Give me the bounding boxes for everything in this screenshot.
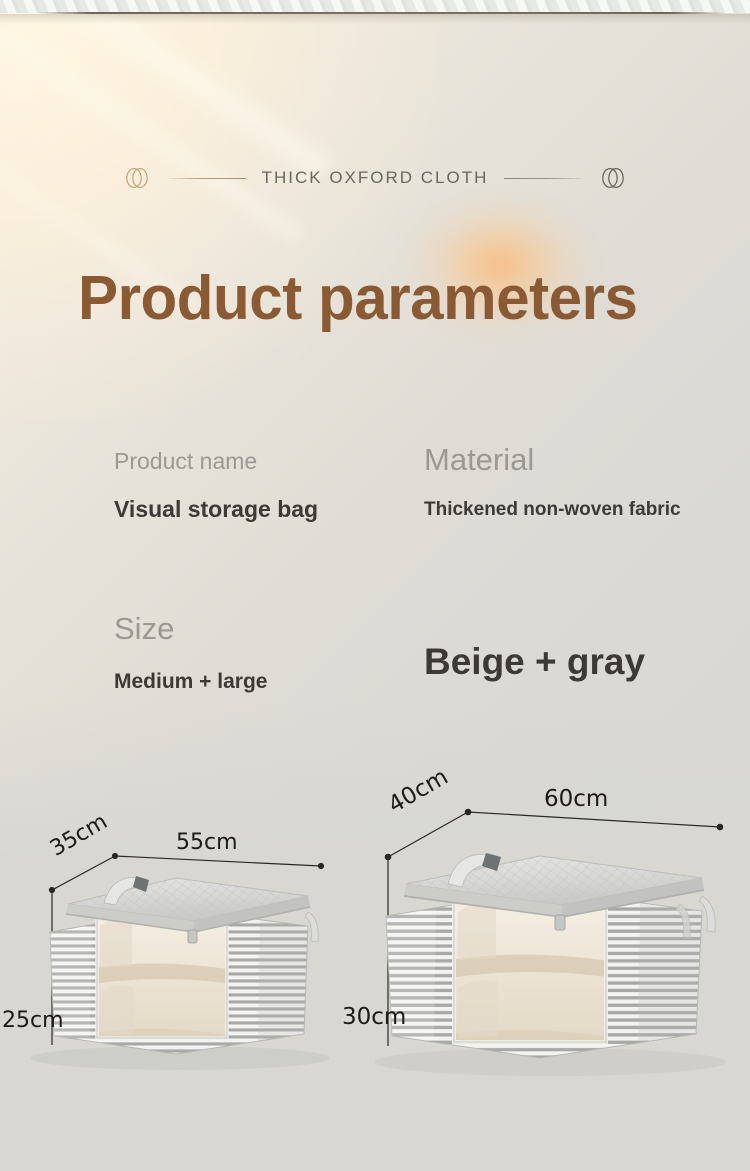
spec-size: Size Medium + large	[114, 611, 267, 694]
dimension-width-label: 60cm	[544, 786, 608, 812]
interlocking-rings-ornament	[598, 167, 628, 189]
dimension-endpoints	[385, 809, 724, 861]
eyebrow-banner: THICK OXFORD CLOTH	[0, 163, 750, 193]
spec-color: Color Beige + gray	[424, 611, 645, 683]
product-parameters-page: THICK OXFORD CLOTH Product parameters Pr…	[0, 0, 750, 1171]
storage-bag-large-illustration	[336, 778, 750, 1090]
eyebrow-rule-left	[168, 178, 246, 179]
spec-value: Visual storage bag	[114, 496, 318, 523]
dimension-height-label: 30cm	[342, 1004, 406, 1030]
storage-bag-medium-figure: 55cm 35cm 25cm	[8, 808, 352, 1088]
spec-grid: Product name Visual storage bag Material…	[0, 448, 750, 774]
spec-material: Material Thickened non-woven fabric	[424, 442, 681, 521]
spec-label: Size	[114, 611, 267, 647]
page-title: Product parameters	[78, 268, 637, 330]
eyebrow-label: THICK OXFORD CLOTH	[262, 168, 489, 188]
spec-label: Product name	[114, 448, 318, 475]
spec-value: Medium + large	[114, 670, 267, 694]
spec-row: Size Medium + large Color Beige + gray	[0, 611, 750, 774]
top-photo-strip	[0, 0, 750, 15]
interlocking-rings-ornament	[122, 167, 152, 189]
storage-bag-large-figure: 60cm 40cm 30cm	[336, 778, 750, 1090]
spec-value: Thickened non-woven fabric	[424, 499, 681, 521]
spec-product-name: Product name Visual storage bag	[114, 448, 318, 523]
top-photo-shadow	[0, 14, 750, 24]
dimension-width-label: 55cm	[176, 830, 238, 855]
dimension-height-label: 25cm	[2, 1008, 64, 1033]
spec-row: Product name Visual storage bag Material…	[0, 448, 750, 611]
spec-value: Beige + gray	[424, 641, 645, 683]
eyebrow-rule-right	[504, 178, 582, 179]
spec-label: Material	[424, 442, 681, 478]
